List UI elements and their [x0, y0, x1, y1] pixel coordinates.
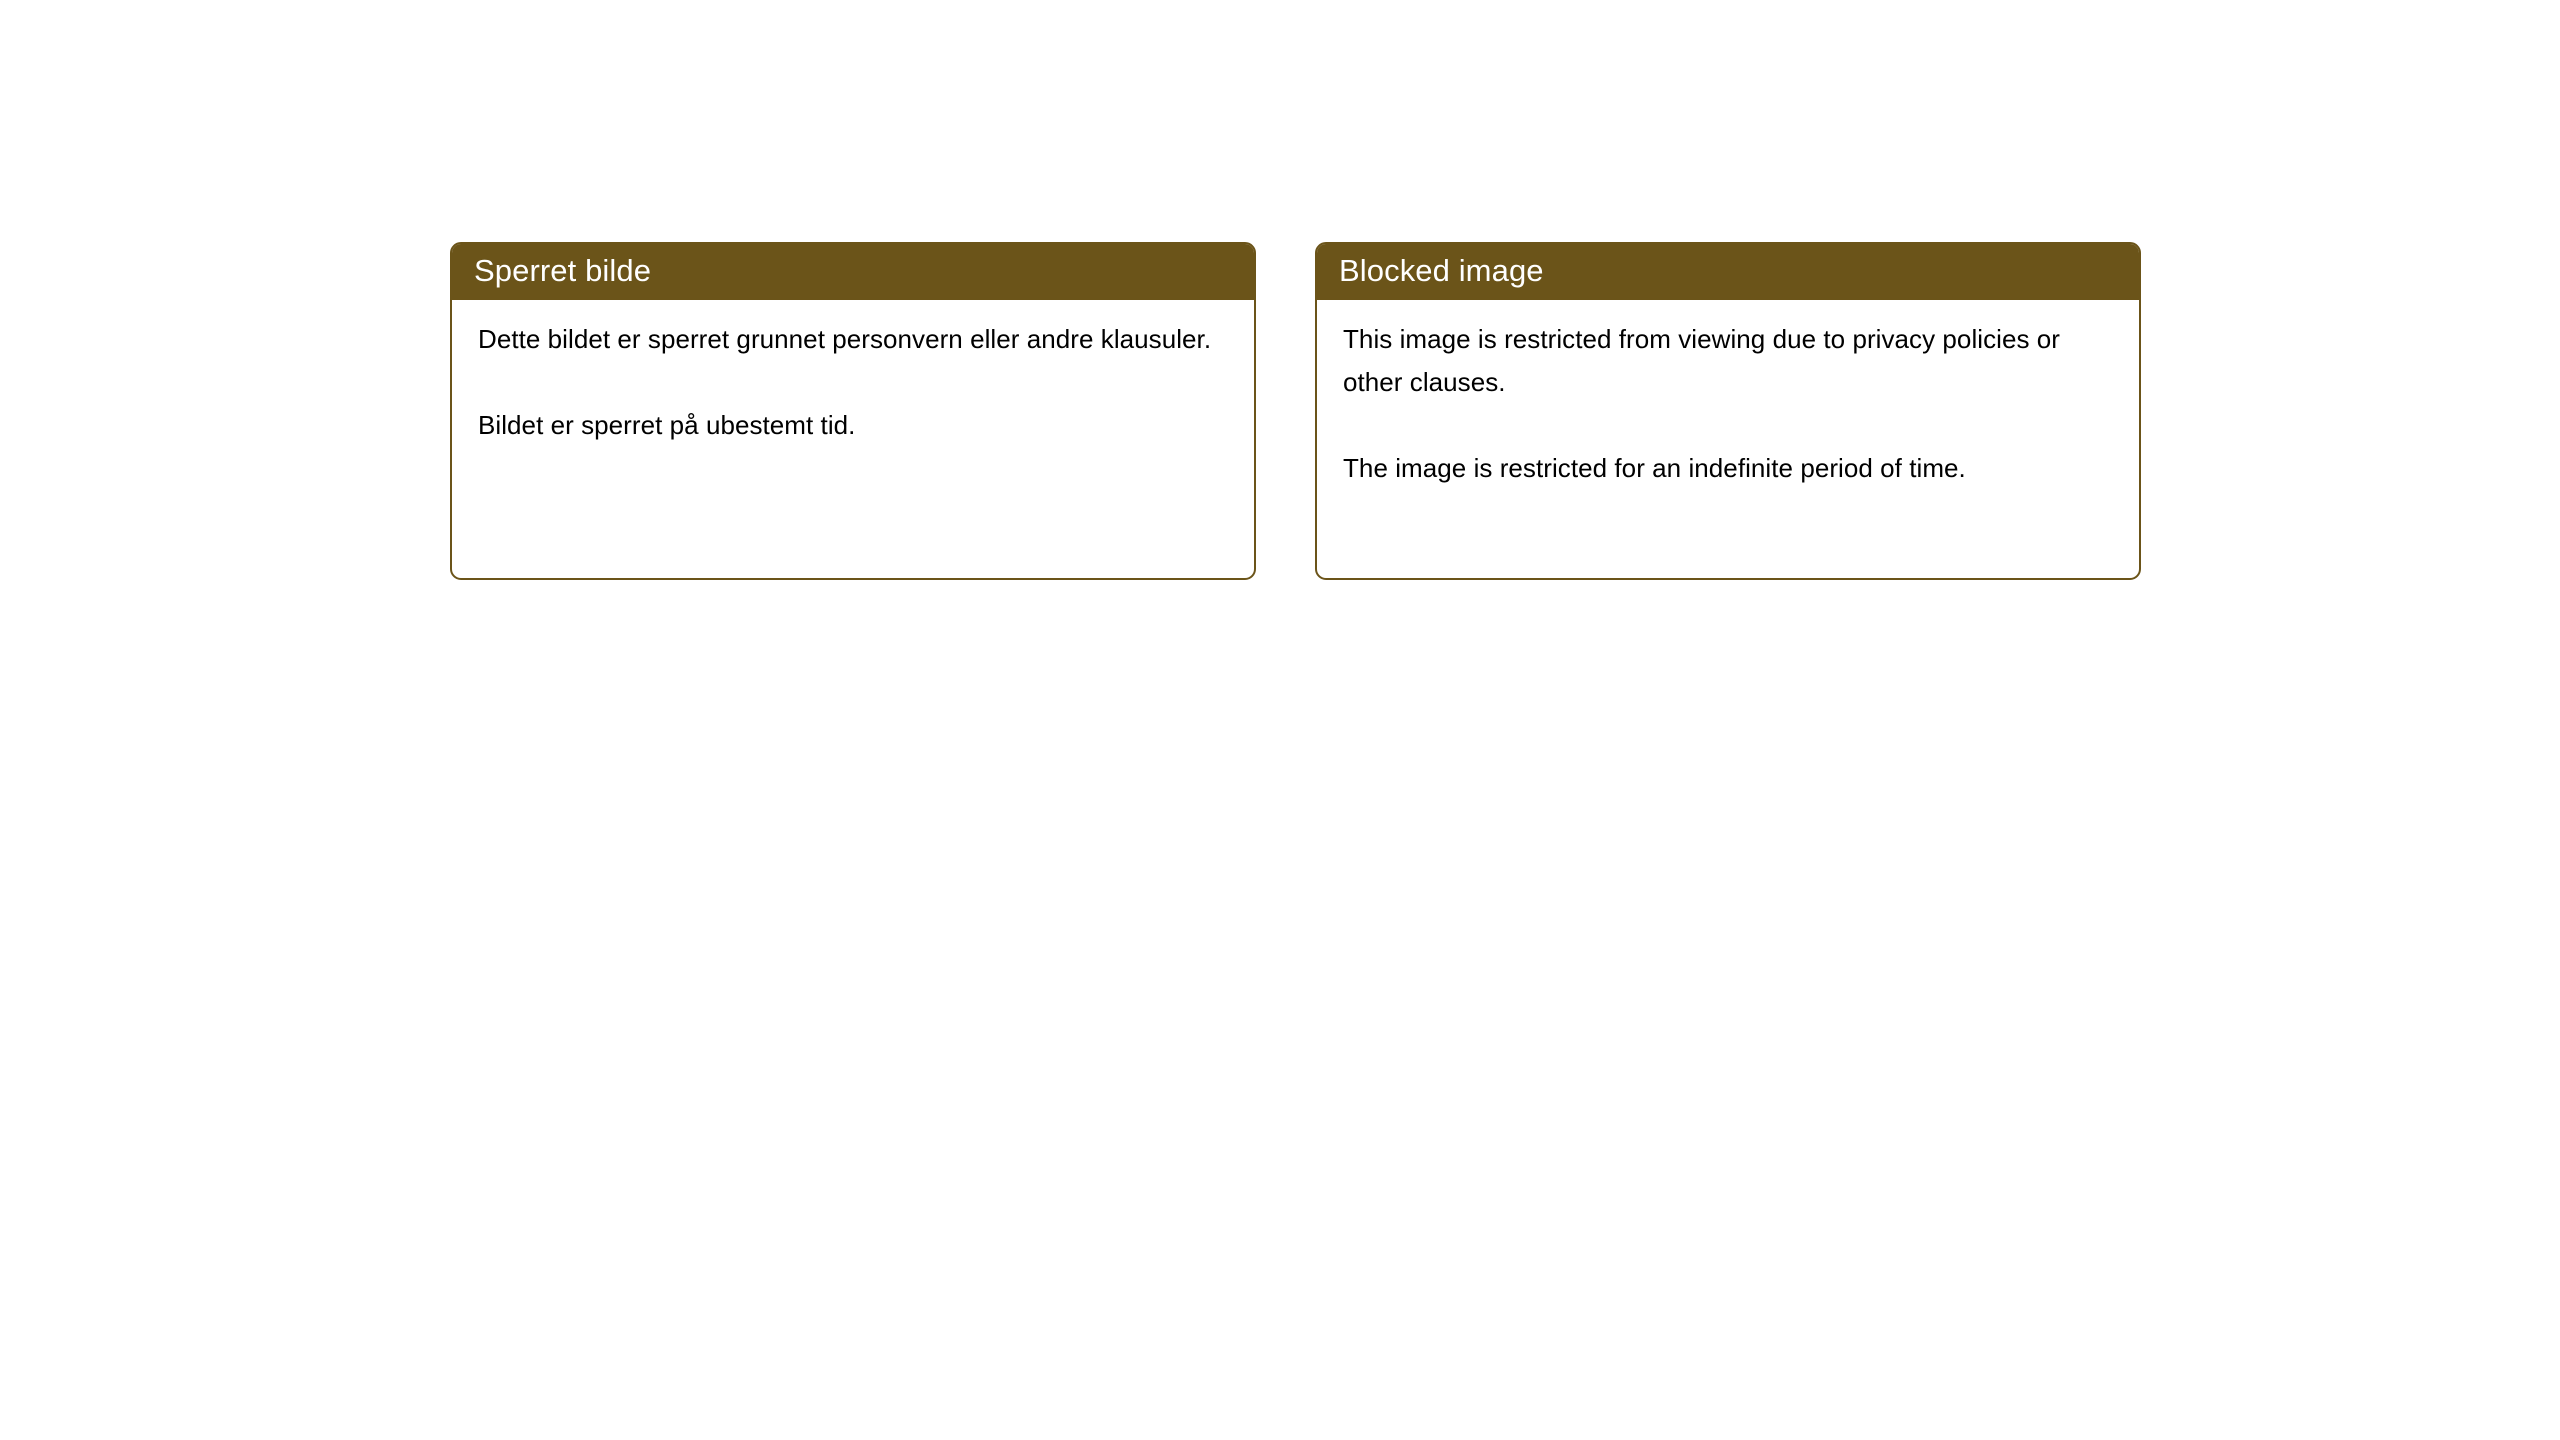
card-paragraph-en-2: The image is restricted for an indefinit…	[1343, 447, 2115, 490]
paragraph-spacer-en	[1343, 404, 2115, 447]
blocked-image-notice-en: Blocked image This image is restricted f…	[1315, 242, 2141, 580]
page-canvas: Sperret bilde Dette bildet er sperret gr…	[0, 0, 2560, 1440]
card-title-no: Sperret bilde	[474, 254, 651, 288]
card-paragraph-no-2: Bildet er sperret på ubestemt tid.	[478, 404, 1230, 447]
card-body-no: Dette bildet er sperret grunnet personve…	[452, 300, 1254, 447]
card-header-no: Sperret bilde	[450, 242, 1256, 300]
card-header-en: Blocked image	[1315, 242, 2141, 300]
blocked-image-notice-no: Sperret bilde Dette bildet er sperret gr…	[450, 242, 1256, 580]
card-title-en: Blocked image	[1339, 254, 1544, 288]
paragraph-spacer-no	[478, 361, 1230, 404]
card-body-en: This image is restricted from viewing du…	[1317, 300, 2139, 490]
card-paragraph-en-1: This image is restricted from viewing du…	[1343, 318, 2115, 404]
card-paragraph-no-1: Dette bildet er sperret grunnet personve…	[478, 318, 1230, 361]
